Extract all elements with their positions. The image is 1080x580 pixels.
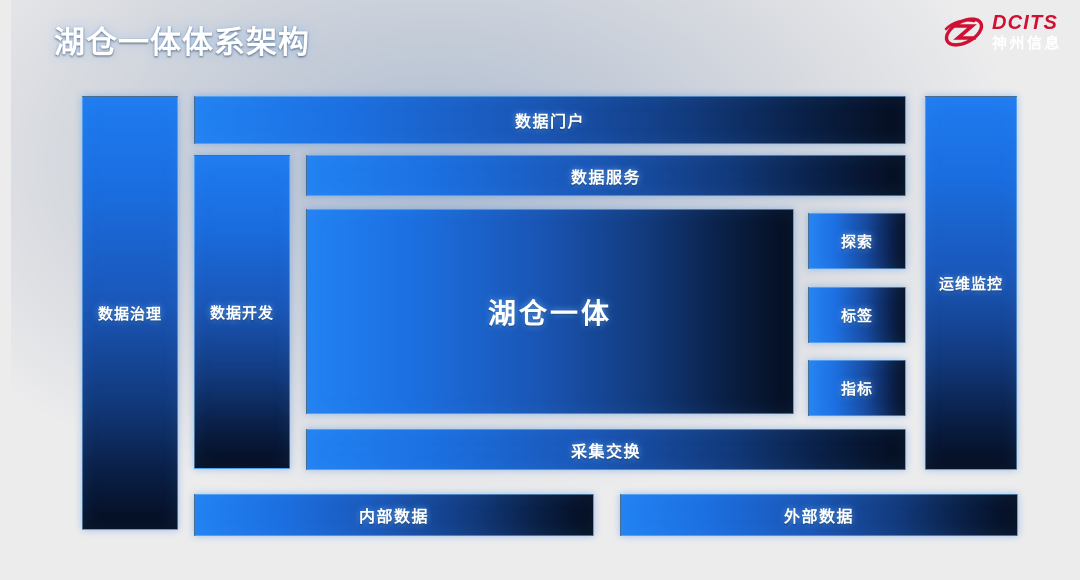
core-lakehouse-label: 湖仓一体 (488, 292, 612, 332)
pillar-ops-monitoring[interactable]: 运维监控 (925, 96, 1017, 470)
pillar-ops-monitoring-label: 运维监控 (939, 273, 1003, 294)
layer-data-portal-label: 数据门户 (515, 108, 585, 132)
module-tag[interactable]: 标签 (808, 287, 906, 343)
brand-name-en: DCITS (992, 13, 1062, 33)
layer-data-service-label: 数据服务 (571, 164, 641, 188)
page-title: 湖仓一体体系架构 (54, 17, 310, 62)
module-metric-label: 指标 (841, 378, 873, 399)
module-metric[interactable]: 指标 (808, 360, 906, 416)
source-internal-data-label: 内部数据 (359, 503, 429, 527)
pillar-data-governance[interactable]: 数据治理 (82, 96, 178, 530)
source-internal-data[interactable]: 内部数据 (194, 494, 594, 536)
brand-text: DCITS 神州信息 (992, 13, 1062, 51)
layer-data-service[interactable]: 数据服务 (306, 155, 906, 196)
layer-data-portal[interactable]: 数据门户 (194, 96, 906, 144)
pillar-data-development-label: 数据开发 (210, 302, 274, 323)
module-explore-label: 探索 (841, 231, 873, 252)
slide-root: 湖仓一体体系架构 DCITS 神州信息 数据治理 数据开发 运维监控 数据门户 … (0, 0, 1080, 580)
source-external-data-label: 外部数据 (784, 503, 854, 527)
module-tag-label: 标签 (841, 305, 873, 326)
core-lakehouse[interactable]: 湖仓一体 (306, 209, 794, 414)
source-external-data[interactable]: 外部数据 (620, 494, 1018, 536)
layer-collect-exchange-label: 采集交换 (571, 438, 641, 462)
pillar-data-development[interactable]: 数据开发 (194, 155, 290, 469)
layer-collect-exchange[interactable]: 采集交换 (306, 429, 906, 470)
brand-name-cn: 神州信息 (992, 36, 1062, 51)
dcits-swoosh-logo-icon (943, 12, 985, 52)
pillar-data-governance-label: 数据治理 (98, 303, 162, 324)
brand-logo: DCITS 神州信息 (943, 12, 1062, 52)
module-explore[interactable]: 探索 (808, 213, 906, 269)
